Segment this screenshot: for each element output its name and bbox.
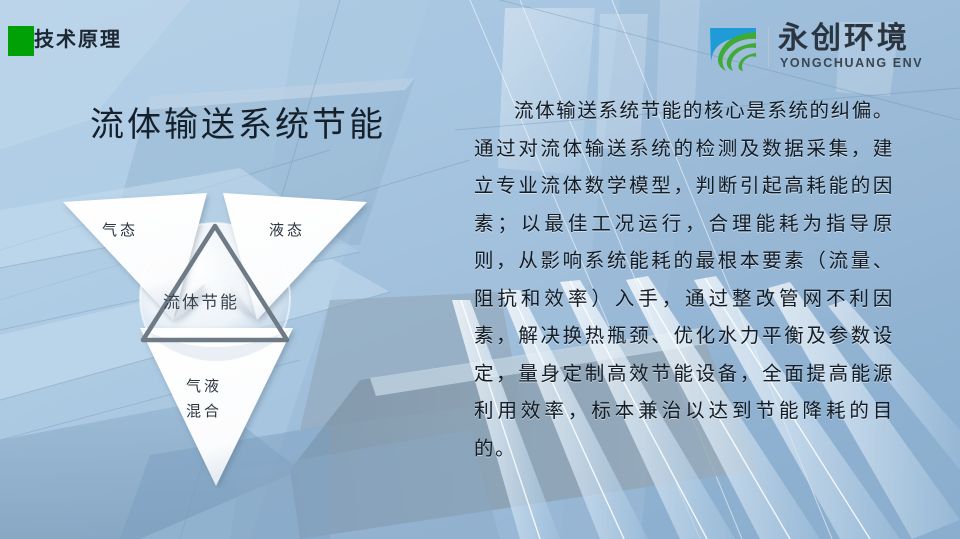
logo-divider: [768, 27, 769, 67]
node-label-mixed-line2: 混合: [186, 399, 222, 424]
node-label-mixed-line1: 气液: [186, 374, 222, 399]
fluid-energy-triangle-diagram: 气态 液态 流体节能 气液 混合: [55, 188, 375, 488]
page-title: 流体输送系统节能: [90, 103, 386, 147]
slide-canvas: 技术原理 永创环境 YONGCHUANG ENV 流体输送系统节能: [0, 0, 960, 539]
node-label-mixed: 气液 混合: [186, 374, 222, 424]
body-paragraph: 流体输送系统节能的核心是系统的纠偏。通过对流体输送系统的检测及数据采集，建立专业…: [474, 92, 894, 467]
node-label-gas: 气态: [102, 219, 138, 240]
yongchuang-leaf-icon: [706, 22, 762, 72]
logo-chinese-name: 永创环境: [778, 22, 910, 56]
section-accent-square: [8, 26, 34, 56]
company-logo: 永创环境 YONGCHUANG ENV: [706, 22, 938, 72]
node-label-liquid: 液态: [269, 219, 305, 240]
logo-english-name: YONGCHUANG ENV: [780, 56, 923, 70]
core-label: 流体节能: [163, 288, 239, 313]
section-title: 技术原理: [34, 25, 122, 55]
